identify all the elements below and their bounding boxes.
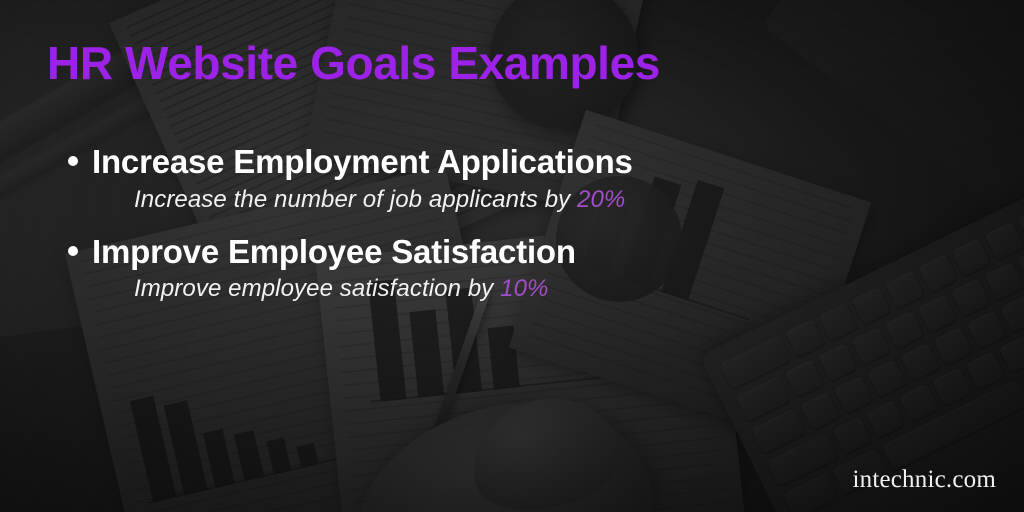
goal-item: Improve Employee Satisfaction Improve em… — [56, 232, 956, 304]
goal-title: Improve Employee Satisfaction — [92, 232, 576, 272]
goal-metric: 10% — [500, 275, 548, 302]
goal-metric: 20% — [577, 186, 625, 213]
footer-website: intechnic.com — [852, 466, 996, 494]
goal-item: Increase Employment Applications Increas… — [56, 142, 956, 214]
slide: HR Website Goals Examples Increase Emplo… — [0, 0, 1024, 512]
slide-content: HR Website Goals Examples Increase Emplo… — [0, 0, 1024, 512]
goal-subtitle-text: Increase the number of job applicants by — [134, 186, 577, 213]
bullet-icon — [68, 246, 78, 256]
slide-title: HR Website Goals Examples — [47, 38, 660, 89]
goal-heading: Improve Employee Satisfaction — [56, 232, 956, 272]
goal-subtitle: Increase the number of job applicants by… — [134, 186, 956, 214]
goal-title: Increase Employment Applications — [92, 142, 633, 182]
goals-list: Increase Employment Applications Increas… — [56, 142, 956, 321]
goal-subtitle: Improve employee satisfaction by 10% — [134, 275, 956, 303]
bullet-icon — [68, 156, 78, 166]
goal-subtitle-text: Improve employee satisfaction by — [134, 275, 500, 302]
goal-heading: Increase Employment Applications — [56, 142, 956, 182]
